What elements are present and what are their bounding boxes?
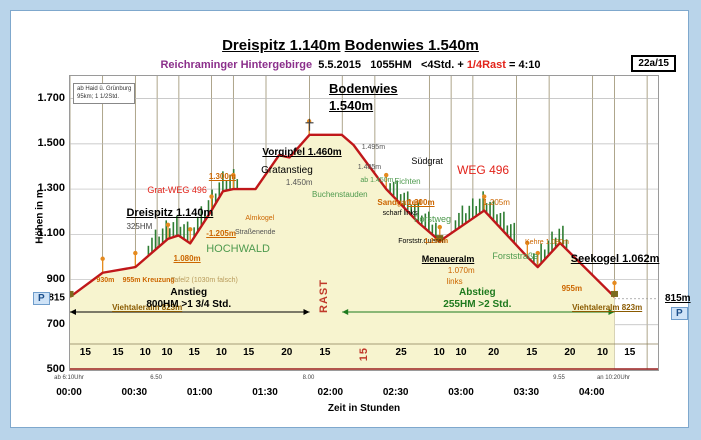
annotation-label: Dreispitz 1.140m [126, 207, 213, 219]
subtitle-duration: <4Std. + [421, 59, 464, 71]
annotation-label: Almkogel [245, 215, 274, 222]
annotation-label: Buchenstauden [312, 190, 368, 199]
annotation-label: 1.300m [407, 198, 434, 207]
annotation-label: Straßenende [235, 229, 275, 236]
annotation-label: 1.150m [424, 238, 448, 245]
annotation-label: 1.080m [174, 254, 201, 263]
approach-note: ab Haid ü. Grünburg 95km; 1 1/2Std. [73, 83, 135, 104]
segment-minutes: 15 [80, 347, 91, 358]
y-axis-tick: 900 [47, 273, 65, 285]
segment-minutes: 15 [624, 347, 635, 358]
segment-minutes: 10 [140, 347, 151, 358]
y-axis-tick: 500 [47, 363, 65, 375]
annotation-label: Forstweg [414, 214, 451, 224]
segment-minutes: 15 [526, 347, 537, 358]
segment-minutes: 20 [281, 347, 292, 358]
profile-svg [70, 76, 658, 370]
annotation-label: 1.485m [358, 164, 381, 171]
annotation-label: 1.300m [209, 172, 236, 181]
approach-note-line1: ab Haid ü. Grünburg [77, 86, 131, 94]
x-axis-time-note: ab 6:10Uhr [54, 375, 84, 381]
page-title: Dreispitz 1.140m Bodenwies 1.540m [11, 37, 690, 54]
x-axis: Zeit in Stunden 00:0000:3001:0001:3002:0… [69, 371, 659, 423]
elevation-profile-plot [69, 75, 659, 371]
segment-minutes: 10 [455, 347, 466, 358]
x-axis-tick: 00:30 [122, 387, 148, 398]
annotation-label: Bodenwies [329, 81, 398, 96]
annotation-label: ab 1.450m [360, 177, 393, 184]
annotation-label: Grat-WEG 496 [147, 185, 207, 195]
subtitle-region: Reichraminger Hintergebirge [160, 59, 312, 71]
annotation-label: 325HM [126, 222, 152, 231]
annotation-label: 1.070m [448, 266, 475, 275]
span-label: Abstieg [459, 287, 496, 298]
parking-icon-left: P [33, 292, 50, 305]
annotation-label: 1.450m [286, 178, 313, 187]
annotation-label: Viehtaleralm 823m [572, 303, 642, 312]
x-axis-tick: 02:00 [318, 387, 344, 398]
annotation-label: Tafel2 (1030m falsch) [171, 277, 238, 284]
title-right: Bodenwies 1.540m [345, 37, 479, 54]
subtitle-date: 5.5.2015 [318, 59, 361, 71]
subtitle-rest: 1/4Rast [467, 59, 506, 71]
segment-minutes: 25 [396, 347, 407, 358]
span-sublabel: 255HM >2 Std. [443, 299, 511, 310]
annotation-label: HOCHWALD [206, 243, 270, 255]
y-axis-tick: 1.500 [37, 137, 65, 149]
segment-minutes: 10 [597, 347, 608, 358]
x-axis-tick: 02:30 [383, 387, 409, 398]
annotation-label: Vorgipfel 1.460m [262, 147, 341, 158]
span-sublabel: 800HM >1 3/4 Std. [146, 299, 231, 310]
annotation-label: Seekogel 1.062m [571, 253, 660, 265]
annotation-label: Menaueralm [422, 254, 475, 264]
segment-minutes: 15 [358, 347, 370, 361]
annotation-label: Kehre 1.080m [525, 239, 569, 246]
annotation-label: 930m [96, 277, 114, 284]
chart-frame: Dreispitz 1.140m Bodenwies 1.540m Reichr… [10, 10, 689, 428]
segment-minutes: 15 [189, 347, 200, 358]
x-axis-tick: 01:30 [252, 387, 278, 398]
segment-minutes: 15 [112, 347, 123, 358]
subtitle: Reichraminger Hintergebirge 5.5.2015 105… [11, 59, 690, 71]
subtitle-hm: 1055HM [370, 59, 412, 71]
x-axis-label: Zeit in Stunden [69, 403, 659, 414]
segment-minutes: 15 [319, 347, 330, 358]
x-axis-time-note: 6.50 [150, 375, 162, 381]
parking-icon-right: P [671, 307, 688, 320]
annotation-label: Forststraße [492, 251, 538, 261]
end-elevation-label: 815m [665, 293, 691, 304]
segment-minutes: 10 [216, 347, 227, 358]
annotation-label: WEG 496 [457, 163, 509, 177]
y-axis-tick: 1.700 [37, 92, 65, 104]
annotation-label: Gratanstieg [261, 165, 313, 176]
span-label: Anstieg [170, 287, 207, 298]
x-axis-tick: 04:00 [579, 387, 605, 398]
annotation-label: links [447, 277, 463, 286]
x-axis-time-note: 8.00 [303, 375, 315, 381]
y-axis-tick: 815 [48, 292, 65, 303]
title-left: Dreispitz 1.140m [222, 37, 340, 54]
annotation-label: Südgrat [411, 156, 443, 166]
segment-minutes: 15 [243, 347, 254, 358]
annotation-rast: RAST [318, 279, 330, 313]
x-axis-tick: 03:30 [514, 387, 540, 398]
annotation-label: 955m [562, 284, 582, 293]
annotation-label: 1.205m [483, 198, 510, 207]
subtitle-total: = 4:10 [509, 59, 541, 71]
annotation-label: scharf links [383, 210, 418, 217]
x-axis-tick: 01:00 [187, 387, 213, 398]
sheet-number-badge: 22a/15 [631, 55, 676, 72]
y-axis-label: Höhen in m [35, 172, 46, 262]
x-axis-tick: 00:00 [56, 387, 82, 398]
annotation-label: Fichten [394, 177, 420, 186]
segment-minutes: 10 [161, 347, 172, 358]
annotation-label: 955m Kreuzung [123, 277, 175, 284]
segment-minutes: 20 [488, 347, 499, 358]
y-axis-tick: 700 [47, 318, 65, 330]
annotation-label: -1.205m [206, 229, 236, 238]
annotation-label: 1.495m [362, 144, 385, 151]
x-axis-time-note: an 10:20Uhr [597, 375, 630, 381]
x-axis-tick: 03:00 [448, 387, 474, 398]
annotation-label: 1.540m [329, 98, 373, 113]
segment-minutes: 10 [434, 347, 445, 358]
segment-minutes: 20 [564, 347, 575, 358]
x-axis-time-note: 9.55 [553, 375, 565, 381]
approach-note-line2: 95km; 1 1/2Std. [77, 94, 131, 102]
